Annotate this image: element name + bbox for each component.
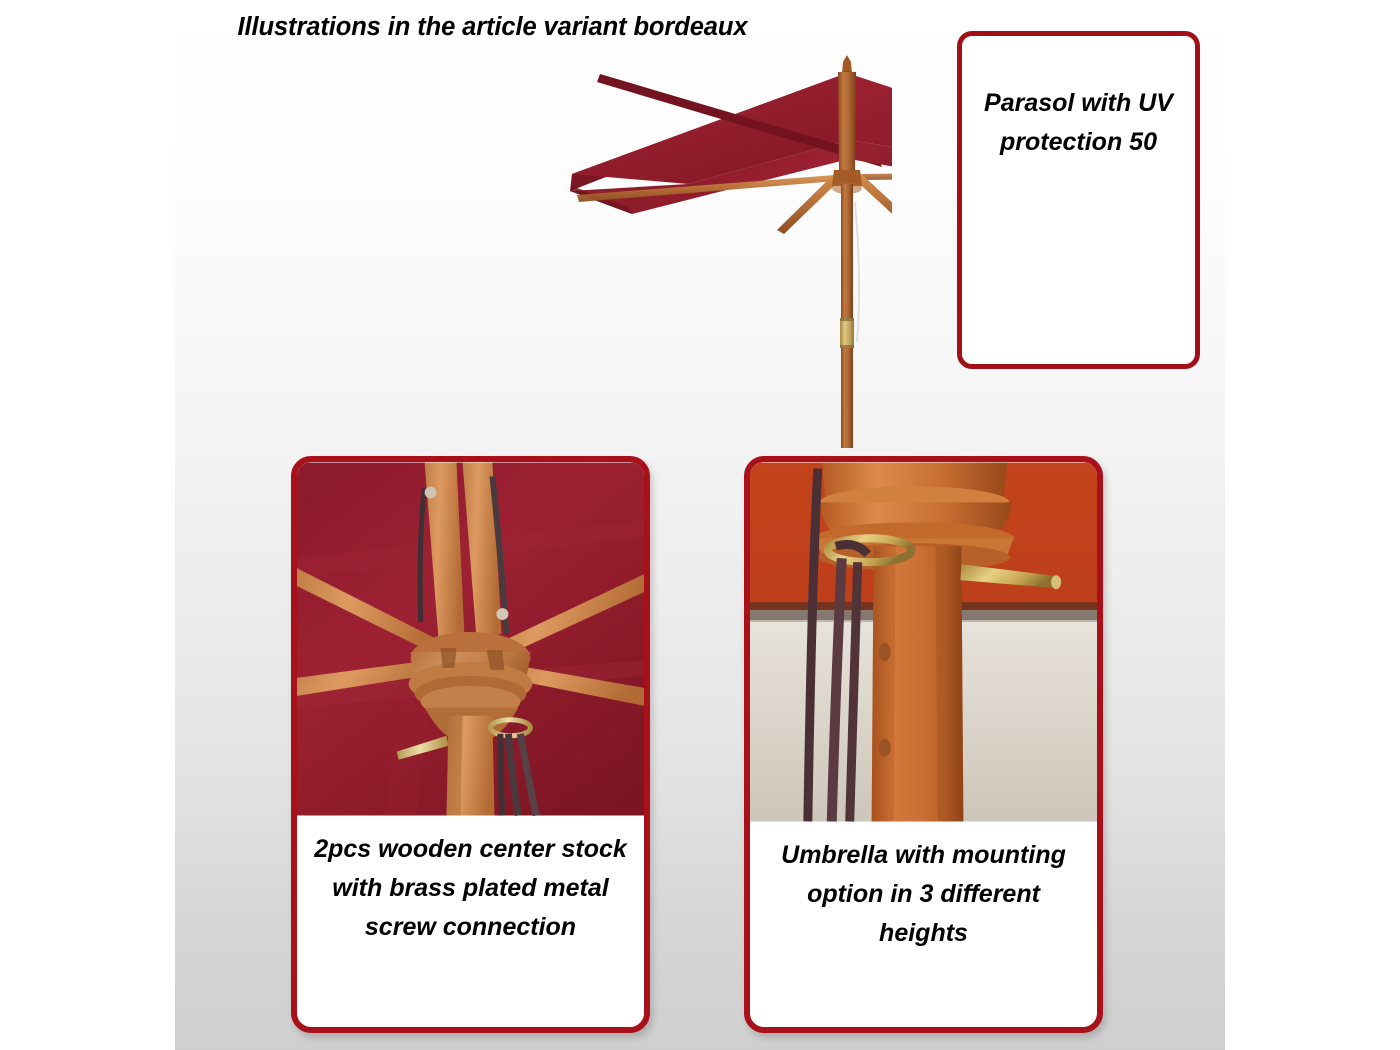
card-center-stock-caption: 2pcs wooden center stock with brass plat… [297,816,644,947]
infographic-page: Illustrations in the article variant bor… [0,0,1400,1050]
center-stock-photo [297,462,644,816]
page-title: Illustrations in the article variant bor… [0,13,985,42]
parasol-hero-image [272,52,892,452]
mounting-heights-photo [750,462,1097,822]
card-mounting-heights: Umbrella with mounting option in 3 diffe… [744,456,1103,1033]
uv-protection-box: Parasol with UV protection 50 [957,31,1200,369]
card-center-stock: 2pcs wooden center stock with brass plat… [291,456,650,1033]
uv-protection-label: Parasol with UV protection 50 [962,84,1195,162]
card-mounting-heights-caption: Umbrella with mounting option in 3 diffe… [750,822,1097,953]
